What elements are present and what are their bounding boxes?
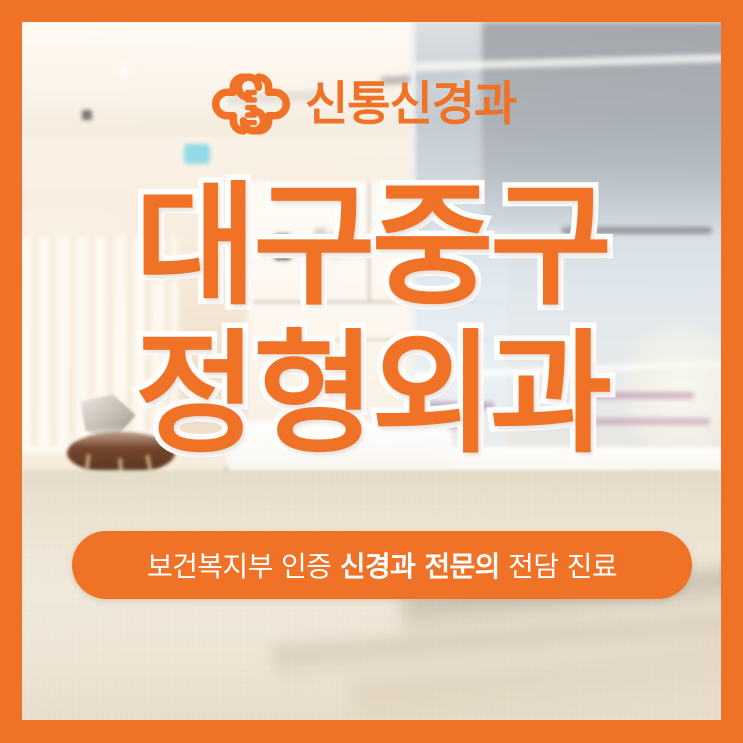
headline-line-2: 정형외과 [0, 332, 743, 460]
tagline-emphasis: 신경과 전문의 [340, 550, 500, 583]
brand-name: 신통신경과 [305, 81, 516, 128]
brand-lockup: 신통신경과 [209, 62, 516, 146]
promo-card: 신통신경과 대구중구 정형외과 보건복지부 인증 신경과 전문의 전담 진료 [0, 0, 743, 743]
tagline-banner: 보건복지부 인증 신경과 전문의 전담 진료 [72, 531, 692, 599]
tagline-suffix: 전담 진료 [500, 550, 617, 583]
headline-line-1: 대구중구 [0, 184, 743, 312]
overlay-content: 신통신경과 대구중구 정형외과 보건복지부 인증 신경과 전문의 전담 진료 [0, 0, 743, 743]
tagline-prefix: 보건복지부 인증 [147, 550, 340, 583]
spine-cross-logo-icon [209, 62, 293, 146]
tagline-text: 보건복지부 인증 신경과 전문의 전담 진료 [147, 545, 617, 585]
